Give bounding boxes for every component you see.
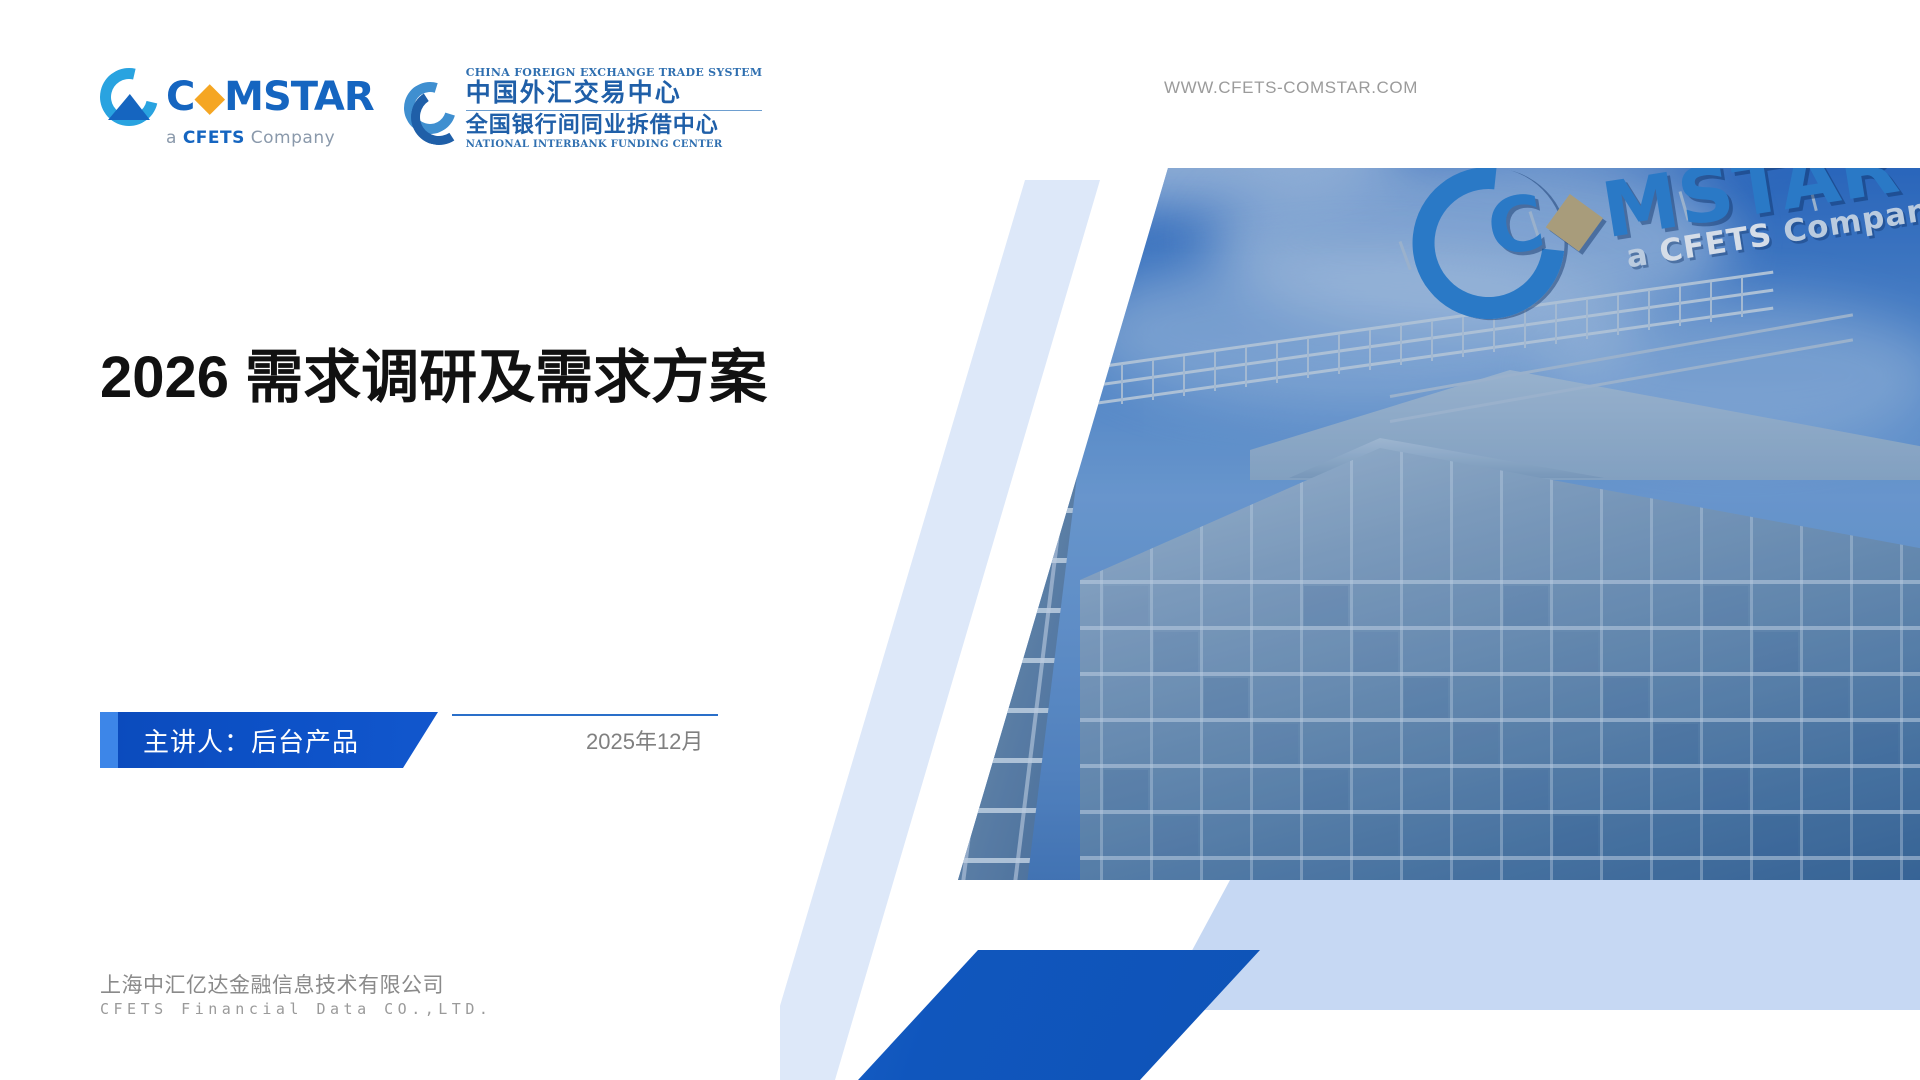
- slide-root: C◆MSTAR a CFETS Company C◆MSTAR a CFETS …: [0, 0, 1920, 1080]
- footer-company-cn: 上海中汇亿达金融信息技术有限公司: [100, 972, 492, 1000]
- speaker-label: 主讲人：后台产品: [143, 722, 359, 759]
- comstar-logo-row: C◆MSTAR: [100, 68, 374, 126]
- cfets-chinese-top: 中国外汇交易中心: [466, 79, 682, 108]
- comstar-logo: C◆MSTAR a CFETS Company: [100, 68, 374, 148]
- website-url[interactable]: WWW.CFETS-COMSTAR.COM: [1164, 78, 1418, 98]
- cfets-logo: CHINA FOREIGN EXCHANGE TRADE SYSTEM 中国外汇…: [404, 66, 763, 150]
- cfets-english-bottom: NATIONAL INTERBANK FUNDING CENTER: [466, 139, 723, 150]
- cfets-chinese-bottom: 全国银行间同业拆借中心: [466, 113, 719, 138]
- presentation-date: 2025年12月: [586, 724, 703, 756]
- speaker-banner: 主讲人：后台产品 2025年12月: [100, 712, 620, 772]
- comstar-swoosh-icon: [100, 68, 158, 126]
- cfets-swoosh-icon: [404, 82, 456, 134]
- page-title: 2026 需求调研及需求方案: [100, 330, 767, 414]
- title-artwork: C◆MSTAR a CFETS Company: [780, 0, 1920, 1080]
- comstar-wordmark: C◆MSTAR: [166, 77, 374, 117]
- footer-company-en: CFETS Financial Data CO.,LTD.: [100, 1000, 492, 1018]
- cloud-shape: [1420, 30, 1800, 160]
- footer: 上海中汇亿达金融信息技术有限公司 CFETS Financial Data CO…: [100, 972, 492, 1018]
- logo-bar: C◆MSTAR a CFETS Company CHINA FOREIGN EX…: [100, 60, 762, 156]
- speaker-banner-edge: [100, 712, 118, 768]
- comstar-tagline: a CFETS Company: [166, 128, 374, 148]
- date-divider-line: [452, 714, 718, 716]
- cfets-logo-text: CHINA FOREIGN EXCHANGE TRADE SYSTEM 中国外汇…: [466, 66, 763, 150]
- cfets-divider: [466, 110, 763, 112]
- speaker-banner-body: 主讲人：后台产品: [118, 712, 438, 768]
